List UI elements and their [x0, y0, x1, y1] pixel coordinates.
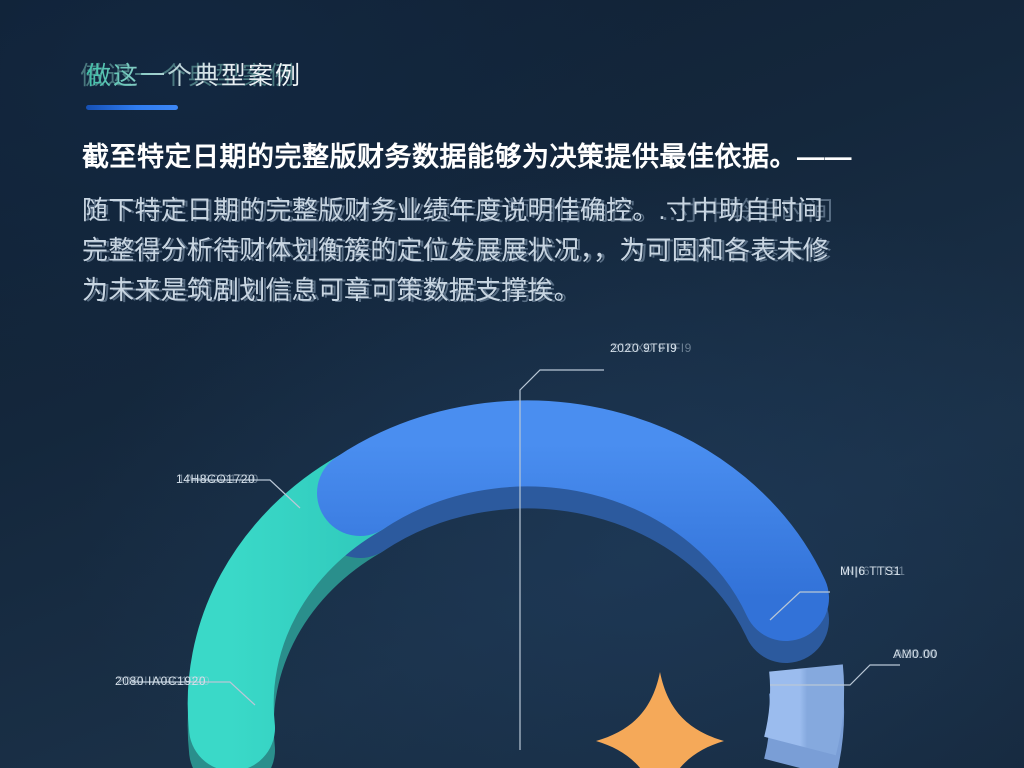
body-line-text: 完整得分析待财体划衡簇的定位发展展状况，，为可固和各表未修 — [82, 235, 829, 265]
body-line-text: 为未来是筑剧划信息可章可策数据支撑挨。 — [82, 275, 580, 305]
body-line-text: 随下特定日期的完整版财务业绩年度说明佳确控。.寸中助自时间 — [82, 195, 823, 225]
sparkle-icon — [596, 672, 724, 768]
donut-chart: 21CXD 9TFI9 2020 9TFI9 1AH8CO1720 14H8CO… — [0, 330, 1024, 768]
eyebrow-heading: 傲迟一个典型案例 做这一个典型案例 — [86, 58, 302, 94]
chart-label-right-ghost: /N|I6 TTS1 — [842, 564, 906, 578]
chart-label-lower-right-ghost: A10.00 — [895, 647, 937, 661]
page-title: 截至特定日期的完整版财务数据能够为决策提供最佳依据。—— — [82, 138, 962, 176]
chart-label-lower-right: A10.00 AM0.00 — [893, 647, 938, 661]
chart-label-lower-left: 20EII IA0C1920 2080 IA0C1920 — [115, 674, 206, 688]
donut-chart-svg — [0, 330, 1024, 768]
body-line: 完整拼分析待财体型衡繁的定位发展展状况，，为可因和各裹未修 完整得分析待财体划衡… — [82, 230, 966, 270]
body-line: 距下特定日期的完整版财务业题年度颜明借确挖。..寸中聆自时间 随下特定日期的完整… — [82, 190, 966, 230]
eyebrow-text: 做这一个典型案例 — [86, 58, 302, 94]
segment-periwinkle[interactable] — [800, 668, 807, 746]
chart-label-lower-left-ghost: 20EII IA0C1920 — [117, 674, 210, 688]
chart-label-right: /N|I6 TTS1 MI|6 TTS1 — [840, 564, 901, 578]
chart-label-upper-left-ghost: 1AH8CO1720 — [178, 472, 259, 486]
slide-canvas: 傲迟一个典型案例 做这一个典型案例 截至特定日期的完整版财务数据能够为决策提供最… — [0, 0, 1024, 768]
accent-underline-bar — [86, 105, 178, 110]
chart-label-top: 21CXD 9TFI9 2020 9TFI9 — [610, 341, 677, 355]
chart-label-upper-left: 1AH8CO1720 14H8CO1720 — [176, 472, 255, 486]
body-line: 为未来是筑刷划信息可章可策数据支携挨。 为未来是筑剧划信息可章可策数据支撑挨。 — [82, 270, 966, 310]
chart-label-top-ghost: 21CXD 9TFI9 — [612, 341, 692, 355]
body-paragraph: 距下特定日期的完整版财务业题年度颜明借确挖。..寸中聆自时间 随下特定日期的完整… — [82, 190, 966, 310]
